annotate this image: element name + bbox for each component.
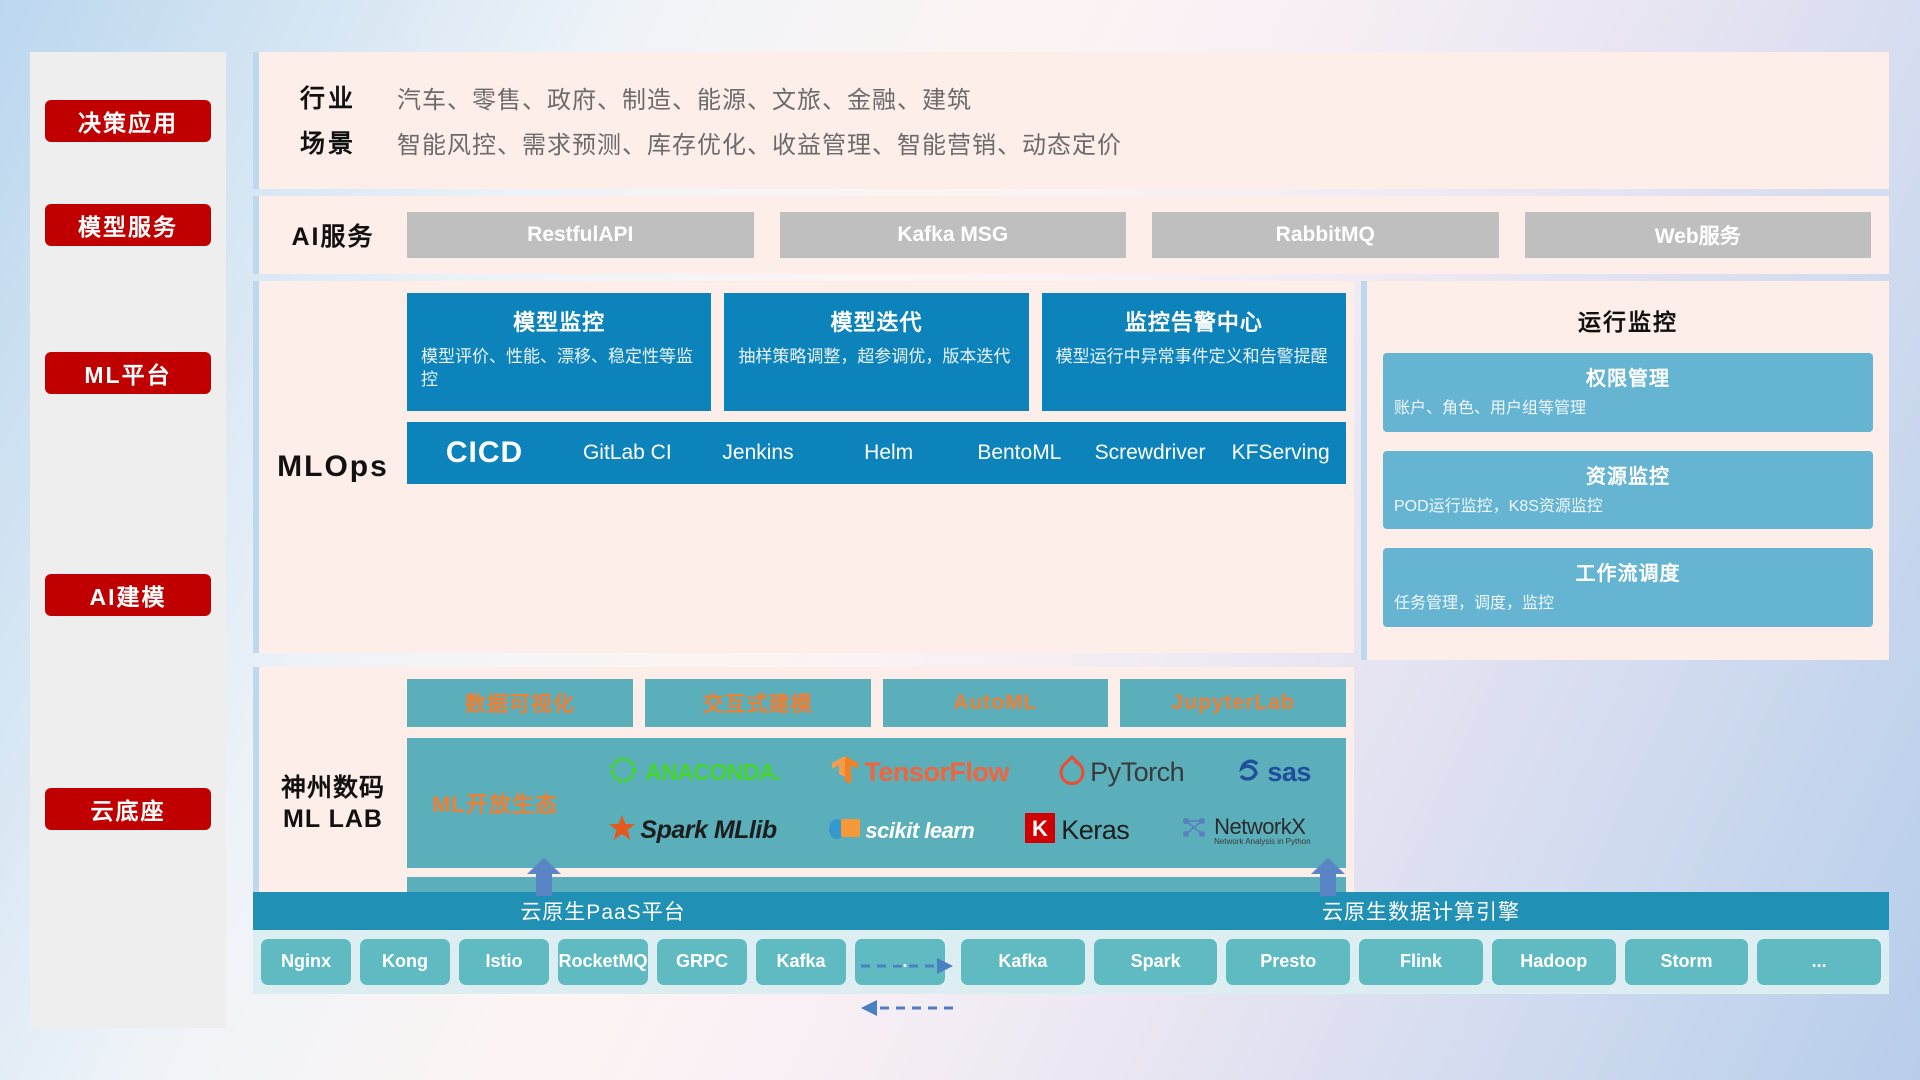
- cicd-item-screwdriver[interactable]: Screwdriver: [1085, 441, 1216, 465]
- cloud-paas-group: 云原生PaaS平台 Nginx Kong Istio RocketMQ GRPC…: [253, 892, 953, 994]
- logo-sas: sas: [1234, 755, 1311, 790]
- bidirectional-link-arrows-icon: [859, 952, 955, 1022]
- cloud-chip-kafka[interactable]: Kafka: [756, 939, 846, 985]
- ml-lab-tab-row: 数据可视化 交互式建模 AutoML JupyterLab: [407, 679, 1346, 727]
- monitor-title: 运行监控: [1383, 303, 1873, 337]
- ai-service-label: AI服务: [259, 217, 407, 253]
- lab-tab-jupyterlab[interactable]: JupyterLab: [1120, 679, 1346, 727]
- ml-ecosystem-logos: ANACONDA. TensorFlow: [583, 738, 1346, 868]
- industry-value: 汽车、零售、政府、制造、能源、文旅、金融、建筑: [397, 80, 972, 115]
- spark-mllib-label: Spark MLlib: [640, 816, 776, 845]
- scikit-learn-icon: [827, 814, 861, 847]
- runtime-monitor-band: 运行监控 权限管理 账户、角色、用户组等管理 资源监控 POD运行监控，K8S资…: [1361, 281, 1889, 660]
- rail-label: 模型服务: [78, 208, 178, 242]
- logo-tensorflow: TensorFlow: [831, 754, 1009, 791]
- ai-service-chip-row: RestfulAPI Kafka MSG RabbitMQ Web服务: [407, 212, 1889, 258]
- mlops-card-row: 模型监控 模型评价、性能、漂移、稳定性等监控 模型迭代 抽样策略调整，超参调优，…: [407, 293, 1346, 411]
- spark-star-icon: [608, 814, 636, 847]
- cloud-foundation-zone: 云原生PaaS平台 Nginx Kong Istio RocketMQ GRPC…: [253, 864, 1889, 1054]
- cicd-title: CICD: [407, 436, 562, 470]
- scenario-row: 场景 智能风控、需求预测、库存优化、收益管理、智能营销、动态定价: [259, 124, 1889, 160]
- mlops-monitor-row: MLOps 模型监控 模型评价、性能、漂移、稳定性等监控 模型迭代 抽样策略调整…: [253, 281, 1889, 660]
- up-arrow-icon-paas: [525, 858, 563, 896]
- ai-service-chip-kafka-msg[interactable]: Kafka MSG: [780, 212, 1127, 258]
- tensorflow-icon: [831, 754, 859, 791]
- ml-ecosystem-label: ML开放生态: [407, 738, 583, 868]
- card-title: 模型迭代: [738, 305, 1014, 337]
- mlops-label: MLOps: [259, 293, 407, 641]
- card-title: 资源监控: [1394, 460, 1862, 489]
- sas-label: sas: [1267, 757, 1311, 788]
- ai-service-chip-rabbitmq[interactable]: RabbitMQ: [1152, 212, 1499, 258]
- cloud-paas-title: 云原生PaaS平台: [253, 892, 953, 930]
- keras-label: Keras: [1061, 815, 1129, 846]
- networkx-sublabel: Network Analysis in Python: [1214, 838, 1311, 846]
- anaconda-label: ANACONDA.: [645, 759, 781, 786]
- ml-lab-label-line1: 神州数码: [259, 773, 407, 804]
- ml-ecosystem-block: ML开放生态 ANACONDA.: [407, 738, 1346, 868]
- cloud-chip-grpc[interactable]: GRPC: [657, 939, 747, 985]
- monitor-card-workflow[interactable]: 工作流调度 任务管理，调度，监控: [1383, 548, 1873, 627]
- scenario-label: 场景: [259, 124, 397, 160]
- cloud-chip-hadoop[interactable]: Hadoop: [1492, 939, 1616, 985]
- tensorflow-label: TensorFlow: [864, 757, 1009, 788]
- monitor-card-permission[interactable]: 权限管理 账户、角色、用户组等管理: [1383, 353, 1873, 432]
- rail-label: 决策应用: [78, 104, 178, 138]
- ai-service-chip-restfulapi[interactable]: RestfulAPI: [407, 212, 754, 258]
- rail-label: 云底座: [91, 792, 166, 826]
- logo-row-2: Spark MLlib scikit learn: [583, 802, 1336, 860]
- rail-item-cloud-foundation[interactable]: 云底座: [45, 788, 211, 830]
- card-desc: 抽样策略调整，超参调优，版本迭代: [738, 346, 1014, 369]
- cloud-chip-kong[interactable]: Kong: [360, 939, 450, 985]
- cicd-item-jenkins[interactable]: Jenkins: [693, 441, 824, 465]
- scenario-value: 智能风控、需求预测、库存优化、收益管理、智能营销、动态定价: [397, 125, 1122, 160]
- cloud-chip-flink[interactable]: Flink: [1359, 939, 1483, 985]
- mlops-card-model-iteration[interactable]: 模型迭代 抽样策略调整，超参调优，版本迭代: [724, 293, 1028, 411]
- networkx-icon: [1180, 814, 1210, 847]
- card-desc: 账户、角色、用户组等管理: [1394, 398, 1862, 420]
- cicd-item-gitlab-ci[interactable]: GitLab CI: [562, 441, 693, 465]
- lab-tab-data-visualization[interactable]: 数据可视化: [407, 679, 633, 727]
- rail-item-ai-modeling[interactable]: AI建模: [45, 574, 211, 616]
- card-desc: 模型运行中异常事件定义和告警提醒: [1056, 346, 1332, 369]
- cicd-item-kfserving[interactable]: KFServing: [1215, 441, 1346, 465]
- card-title: 工作流调度: [1394, 557, 1862, 586]
- rail-item-decision-application[interactable]: 决策应用: [45, 100, 211, 142]
- industry-row: 行业 汽车、零售、政府、制造、能源、文旅、金融、建筑: [259, 79, 1889, 115]
- mlops-content: 模型监控 模型评价、性能、漂移、稳定性等监控 模型迭代 抽样策略调整，超参调优，…: [407, 293, 1354, 641]
- industry-label: 行业: [259, 79, 397, 115]
- cicd-item-bentoml[interactable]: BentoML: [954, 441, 1085, 465]
- rail-item-model-service[interactable]: 模型服务: [45, 204, 211, 246]
- cloud-data-engine-title: 云原生数据计算引擎: [953, 892, 1889, 930]
- cloud-data-engine-chip-row: Kafka Spark Presto Flink Hadoop Storm ..…: [953, 930, 1889, 994]
- scikit-learn-label: scikit learn: [865, 818, 974, 844]
- cloud-chip-kafka-data[interactable]: Kafka: [961, 939, 1085, 985]
- mlops-card-model-monitoring[interactable]: 模型监控 模型评价、性能、漂移、稳定性等监控: [407, 293, 711, 411]
- card-desc: 模型评价、性能、漂移、稳定性等监控: [421, 346, 697, 392]
- cloud-chip-spark[interactable]: Spark: [1094, 939, 1218, 985]
- mlops-band: MLOps 模型监控 模型评价、性能、漂移、稳定性等监控 模型迭代 抽样策略调整…: [253, 281, 1354, 653]
- cloud-chip-more-data[interactable]: ...: [1757, 939, 1881, 985]
- lab-tab-automl[interactable]: AutoML: [883, 679, 1109, 727]
- cloud-chip-istio[interactable]: Istio: [459, 939, 549, 985]
- cicd-item-helm[interactable]: Helm: [823, 441, 954, 465]
- pytorch-label: PyTorch: [1090, 757, 1184, 788]
- rail-item-ml-platform[interactable]: ML平台: [45, 352, 211, 394]
- logo-row-1: ANACONDA. TensorFlow: [583, 744, 1336, 802]
- pytorch-icon: [1059, 755, 1085, 790]
- logo-networkx: NetworkX Network Analysis in Python: [1180, 814, 1311, 847]
- rail-label: AI建模: [90, 578, 167, 612]
- cloud-chip-nginx[interactable]: Nginx: [261, 939, 351, 985]
- industry-scenario-band: 行业 汽车、零售、政府、制造、能源、文旅、金融、建筑 场景 智能风控、需求预测、…: [253, 52, 1889, 189]
- sas-icon: [1234, 755, 1264, 790]
- card-title: 模型监控: [421, 305, 697, 337]
- svg-text:K: K: [1032, 816, 1048, 841]
- cloud-chip-storm[interactable]: Storm: [1625, 939, 1749, 985]
- card-desc: 任务管理，调度，监控: [1394, 593, 1862, 615]
- logo-spark-mllib: Spark MLlib: [608, 814, 776, 847]
- cloud-paas-chip-row: Nginx Kong Istio RocketMQ GRPC Kafka ...: [253, 930, 953, 994]
- ml-lab-label: 神州数码 ML LAB: [259, 773, 407, 836]
- up-arrow-icon-data-engine: [1309, 858, 1347, 896]
- card-title: 权限管理: [1394, 362, 1862, 391]
- rail-label: ML平台: [84, 356, 171, 390]
- keras-icon: K: [1025, 813, 1055, 848]
- card-title: 监控告警中心: [1056, 305, 1332, 337]
- mlops-card-alert-center[interactable]: 监控告警中心 模型运行中异常事件定义和告警提醒: [1042, 293, 1346, 411]
- monitor-card-resource[interactable]: 资源监控 POD运行监控，K8S资源监控: [1383, 451, 1873, 530]
- logo-keras: K Keras: [1025, 813, 1129, 848]
- networkx-label: NetworkX: [1214, 816, 1311, 838]
- ai-service-band: AI服务 RestfulAPI Kafka MSG RabbitMQ Web服务: [253, 196, 1889, 274]
- cloud-data-engine-group: 云原生数据计算引擎 Kafka Spark Presto Flink Hadoo…: [953, 892, 1889, 994]
- logo-anaconda: ANACONDA.: [608, 755, 781, 790]
- cloud-chip-rocketmq[interactable]: RocketMQ: [558, 939, 648, 985]
- ml-lab-label-line2: ML LAB: [259, 804, 407, 835]
- layer-rail: 决策应用 模型服务 ML平台 AI建模 云底座: [30, 52, 226, 1028]
- anaconda-icon: [608, 755, 638, 790]
- cicd-bar: CICD GitLab CI Jenkins Helm BentoML Scre…: [407, 422, 1346, 484]
- logo-pytorch: PyTorch: [1059, 755, 1184, 790]
- lab-tab-interactive-modeling[interactable]: 交互式建模: [645, 679, 871, 727]
- logo-scikit-learn: scikit learn: [827, 814, 974, 847]
- cloud-chip-presto[interactable]: Presto: [1226, 939, 1350, 985]
- mlops-label-text: MLOps: [259, 450, 407, 484]
- ai-service-chip-web-service[interactable]: Web服务: [1525, 212, 1872, 258]
- card-desc: POD运行监控，K8S资源监控: [1394, 496, 1862, 518]
